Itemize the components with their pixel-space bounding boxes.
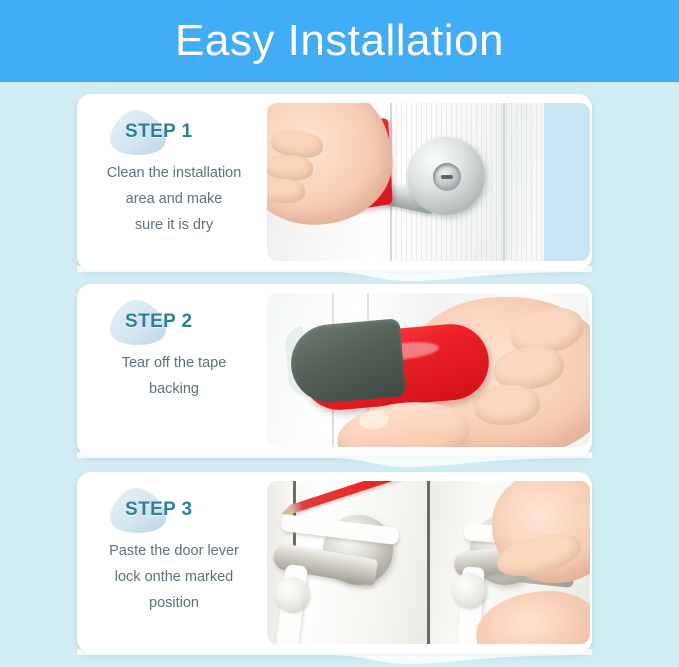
step-1-label: STEP 1 [125,121,193,143]
step-2-text-column: STEP 2 Tear off the tape backing [77,284,267,456]
step-3-description: Paste the door lever lock onthe marked p… [89,538,259,616]
step-card-1: STEP 1 Clean the installation area and m… [77,94,592,270]
step-3-line-2: lock onthe marked [91,564,257,590]
step-1-line-2: area and make [91,186,257,212]
step-2-line-1: Tear off the tape [91,350,257,376]
step-2-line-2: backing [91,376,257,402]
step-card-2: STEP 2 Tear off the tape backing [77,284,592,456]
step-3-line-1: Paste the door lever [91,538,257,564]
step-1-badge: STEP 1 [99,108,249,156]
step-3-badge: STEP 3 [99,486,249,534]
step-1-line-1: Clean the installation [91,160,257,186]
header-banner: Easy Installation [0,0,679,82]
step-3-photo [267,481,590,644]
step-1-text-column: STEP 1 Clean the installation area and m… [77,94,267,270]
steps-container: STEP 1 Clean the installation area and m… [0,82,679,667]
step-2-label: STEP 2 [125,311,193,333]
step-2-badge: STEP 2 [99,298,249,346]
step-3-line-3: position [91,590,257,616]
step-3-text-column: STEP 3 Paste the door lever lock onthe m… [77,472,267,653]
step-card-3: STEP 3 Paste the door lever lock onthe m… [77,472,592,653]
step-3-label: STEP 3 [125,499,193,521]
step-1-description: Clean the installation area and make sur… [89,160,259,238]
step-1-photo [267,103,590,261]
step-1-line-3: sure it is dry [91,212,257,238]
step-2-photo [267,293,590,447]
page-title: Easy Installation [175,19,504,63]
step-2-description: Tear off the tape backing [89,350,259,402]
